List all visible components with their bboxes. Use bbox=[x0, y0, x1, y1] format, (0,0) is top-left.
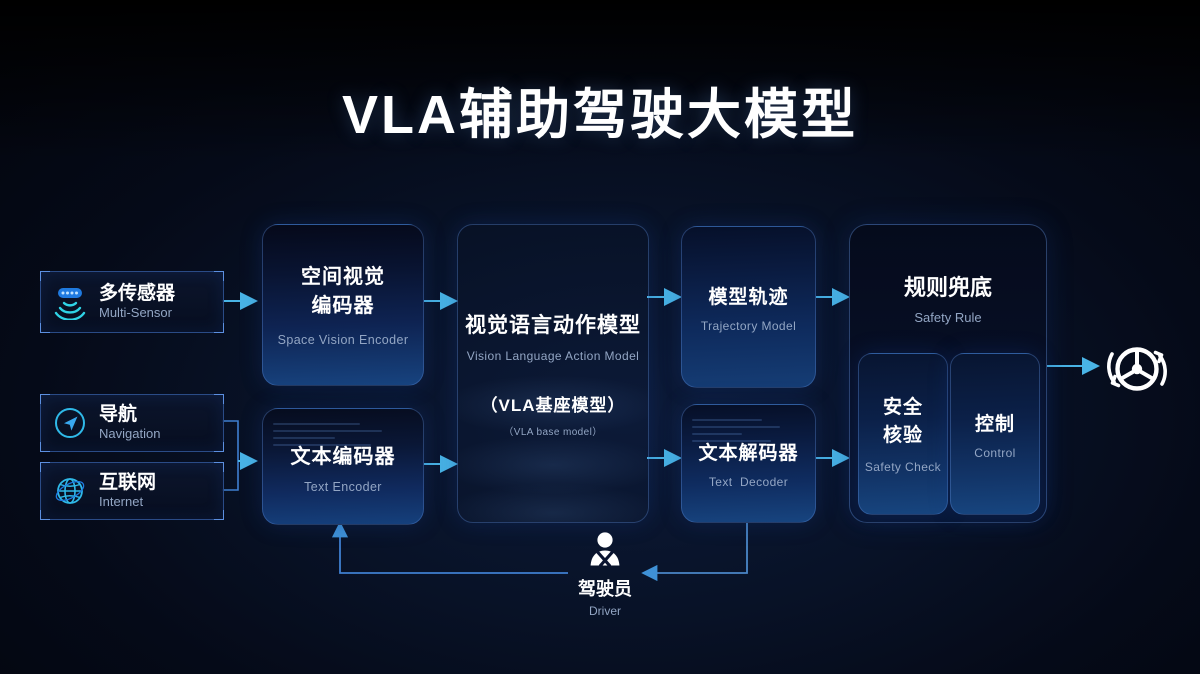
input-label-en: Multi-Sensor bbox=[99, 306, 175, 321]
corner-mark bbox=[214, 271, 224, 281]
node-label-en: Text Decoder bbox=[709, 475, 788, 489]
node-label-cn: 模型轨迹 bbox=[708, 282, 788, 309]
group-label-en: Safety Rule bbox=[850, 309, 1046, 327]
node-label-cn: 控制 bbox=[975, 409, 1015, 436]
input-label-group: 互联网 Internet bbox=[99, 472, 156, 511]
corner-mark bbox=[40, 510, 50, 520]
node-label-cn-line1: 安全 bbox=[883, 394, 923, 422]
node-vla-base-model[interactable]: 视觉语言动作模型 Vision Language Action Model （V… bbox=[457, 224, 649, 523]
node-label-en: Safety Check bbox=[865, 460, 941, 474]
node-safety-check[interactable]: 安全 核验 Safety Check bbox=[858, 353, 948, 515]
driver-person-icon bbox=[583, 557, 627, 574]
wave-decor bbox=[457, 483, 649, 523]
node-trajectory-model[interactable]: 模型轨迹 Trajectory Model bbox=[681, 226, 816, 388]
corner-mark bbox=[214, 462, 224, 472]
input-label-en: Internet bbox=[99, 495, 156, 510]
node-label-en: Vision Language Action Model bbox=[467, 349, 639, 363]
wire-nav-join bbox=[222, 421, 238, 461]
input-label-cn: 多传感器 bbox=[99, 283, 175, 305]
corner-mark bbox=[214, 394, 224, 404]
node-control[interactable]: 控制 Control bbox=[950, 353, 1040, 515]
input-label-cn: 互联网 bbox=[99, 472, 156, 494]
node-sublabel-cn: （VLA基座模型） bbox=[481, 391, 626, 416]
input-node-navigation[interactable]: 导航 Navigation bbox=[40, 394, 224, 452]
input-node-internet[interactable]: 互联网 Internet bbox=[40, 462, 224, 520]
node-label-en: Text Encoder bbox=[304, 480, 382, 494]
corner-mark bbox=[40, 462, 50, 472]
corner-mark bbox=[214, 442, 224, 452]
node-label-cn-line1: 空间视觉 bbox=[301, 263, 385, 292]
node-label-cn: 视觉语言动作模型 bbox=[465, 309, 641, 339]
wire-driver-to-text-encoder bbox=[340, 523, 568, 573]
node-safety-rule-group[interactable]: 规则兜底 Safety Rule 安全 核验 Safety Check 控制 C… bbox=[849, 224, 1047, 523]
node-label-en: Trajectory Model bbox=[701, 319, 796, 333]
node-sublabel-en: （VLA base model） bbox=[503, 423, 602, 438]
radar-sensor-icon bbox=[41, 284, 99, 320]
corner-mark bbox=[40, 271, 50, 281]
group-header: 规则兜底 Safety Rule bbox=[850, 273, 1046, 326]
node-label-cn: 文本编码器 bbox=[291, 440, 396, 469]
input-label-group: 导航 Navigation bbox=[99, 404, 160, 443]
node-text-decoder[interactable]: 文本解码器 Text Decoder bbox=[681, 404, 816, 523]
node-label-cn-line2: 核验 bbox=[883, 422, 923, 450]
node-space-vision-encoder[interactable]: 空间视觉 编码器 Space Vision Encoder bbox=[262, 224, 424, 386]
node-label-en: Control bbox=[974, 446, 1015, 460]
corner-mark bbox=[40, 323, 50, 333]
wire-decoder-to-driver bbox=[643, 521, 747, 573]
input-label-cn: 导航 bbox=[99, 404, 160, 426]
node-driver[interactable]: 驾驶员 Driver bbox=[566, 530, 644, 618]
corner-mark bbox=[214, 323, 224, 333]
corner-mark bbox=[40, 394, 50, 404]
globe-icon bbox=[41, 472, 99, 510]
wire-internet-join bbox=[222, 461, 238, 490]
input-label-group: 多传感器 Multi-Sensor bbox=[99, 283, 175, 322]
diagram-canvas: VLA辅助驾驶大模型 bbox=[0, 0, 1200, 674]
corner-mark bbox=[214, 510, 224, 520]
node-label-en: Space Vision Encoder bbox=[278, 333, 409, 347]
steering-wheel-rotate-icon bbox=[1098, 393, 1176, 410]
input-node-multi-sensor[interactable]: 多传感器 Multi-Sensor bbox=[40, 271, 224, 333]
node-label-cn-line2: 编码器 bbox=[312, 292, 375, 321]
node-label-cn: 文本解码器 bbox=[698, 438, 798, 465]
node-text-encoder[interactable]: 文本编码器 Text Encoder bbox=[262, 408, 424, 525]
driver-label-cn: 驾驶员 bbox=[566, 575, 644, 601]
navigation-arrow-icon bbox=[41, 405, 99, 441]
output-steering-wheel[interactable] bbox=[1098, 328, 1176, 406]
input-label-en: Navigation bbox=[99, 427, 160, 442]
driver-label-en: Driver bbox=[566, 604, 644, 618]
page-title: VLA辅助驾驶大模型 bbox=[0, 70, 1200, 149]
group-label-cn: 规则兜底 bbox=[904, 275, 992, 300]
corner-mark bbox=[40, 442, 50, 452]
